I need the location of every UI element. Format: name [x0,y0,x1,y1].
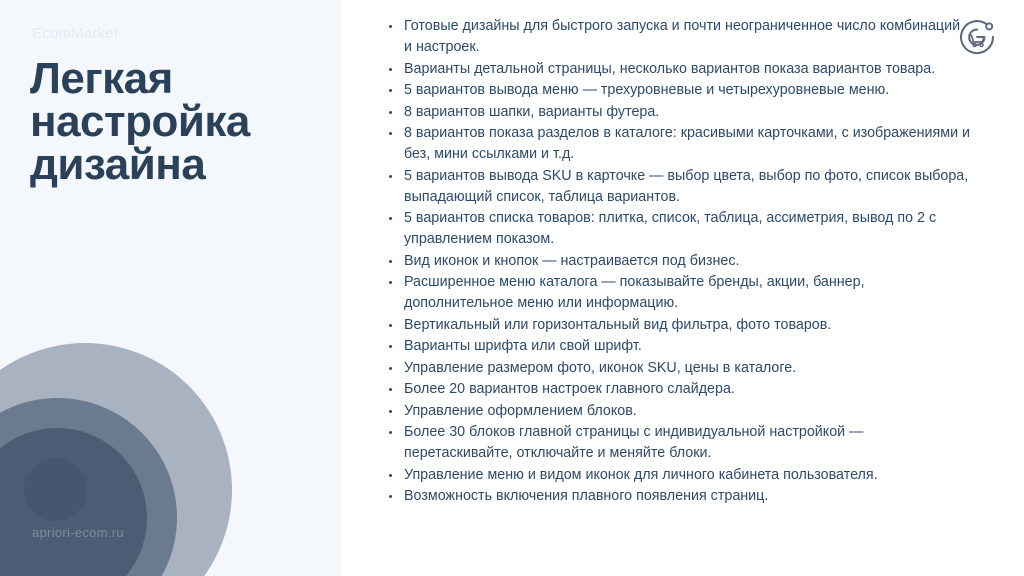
ring-outer [0,343,232,576]
logo-svg [956,16,998,58]
list-item: Более 20 вариантов настроек главного сла… [386,379,971,400]
list-item: Управление размером фото, иконок SKU, це… [386,358,971,379]
list-item: Управление меню и видом иконок для лично… [386,465,971,486]
list-item: Более 30 блоков главной страницы с индив… [386,422,971,464]
list-item: Управление оформлением блоков. [386,401,971,422]
ring-inner [24,458,87,521]
list-item: 5 вариантов вывода SKU в карточке — выбо… [386,166,971,208]
shopping-cart-circle-logo-icon [956,16,998,58]
list-item: 8 вариантов показа разделов в каталоге: … [386,123,971,165]
list-item: Варианты детальной страницы, несколько в… [386,59,971,80]
list-item: Вертикальный или горизонтальный вид филь… [386,315,971,336]
list-item: Варианты шрифта или свой шрифт. [386,336,971,357]
list-item: Расширенное меню каталога — показывайте … [386,272,971,314]
list-item: Вид иконок и кнопок — настраивается под … [386,251,971,272]
ring-second [0,398,177,576]
list-item: Готовые дизайны для быстрого запуска и п… [386,16,971,58]
left-panel: EcomMarket Легкая настройка дизайна apri… [0,0,341,576]
footer-url: apriori-ecom.ru [32,525,124,540]
feature-bullet-list: Готовые дизайны для быстрого запуска и п… [386,16,971,507]
list-item: 5 вариантов списка товаров: плитка, спис… [386,208,971,250]
list-item: 5 вариантов вывода меню — трехуровневые … [386,80,971,101]
list-item: Возможность включения плавного появления… [386,486,971,507]
list-item: 8 вариантов шапки, варианты футера. [386,102,971,123]
brand-label: EcomMarket [32,25,118,42]
feature-list-panel: Готовые дизайны для быстрого запуска и п… [386,16,971,508]
slide-root: EcomMarket Легкая настройка дизайна apri… [0,0,1024,576]
ring-third [0,428,147,576]
page-title: Легкая настройка дизайна [30,57,330,186]
